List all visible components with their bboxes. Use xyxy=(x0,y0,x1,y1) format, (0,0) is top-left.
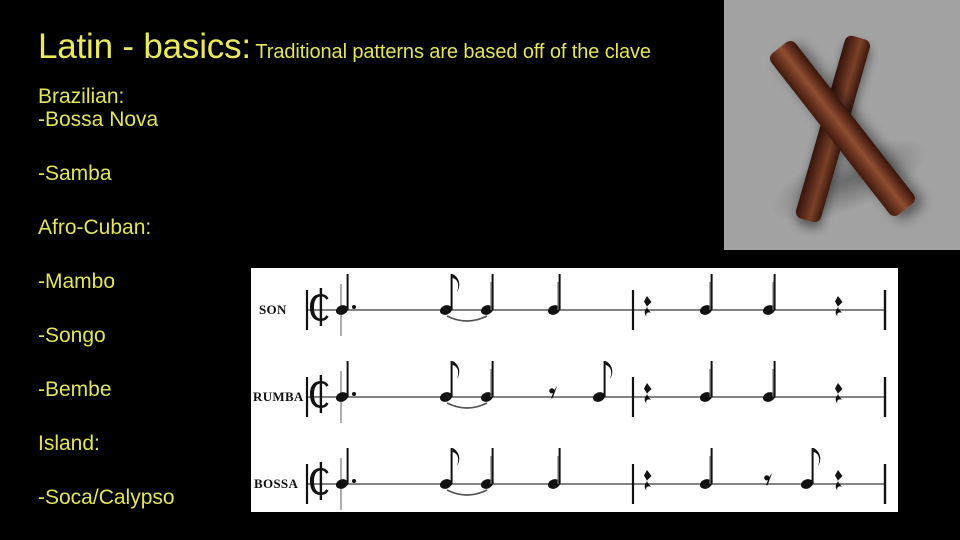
note-dotted-quarter xyxy=(335,448,350,490)
page-subtitle: Traditional patterns are based off of th… xyxy=(255,41,651,63)
list-item: -Mambo xyxy=(38,270,248,293)
note-quarter xyxy=(480,361,495,403)
list-item: -Bossa Nova xyxy=(38,108,248,131)
clef-cut-time xyxy=(310,288,329,326)
note-quarter xyxy=(547,274,562,316)
slide-title: Latin - basics: Traditional patterns are… xyxy=(38,27,778,67)
note-quarter xyxy=(480,448,495,490)
staff-label-son: SON xyxy=(259,302,287,317)
slide-canvas: Latin - basics: Traditional patterns are… xyxy=(0,0,960,540)
list-item: -Songo xyxy=(38,324,248,347)
note-dotted-quarter xyxy=(335,361,350,403)
staff-rumba: RUMBA xyxy=(253,361,886,423)
note-quarter xyxy=(480,274,495,316)
tie xyxy=(447,490,487,495)
note-quarter xyxy=(699,448,714,490)
list-item: Brazilian: xyxy=(38,85,248,108)
list-item: Afro-Cuban: xyxy=(38,216,248,239)
augmentation-dot xyxy=(352,305,356,309)
rest-quarter xyxy=(644,296,652,317)
tie xyxy=(447,316,487,321)
note-quarter xyxy=(547,448,562,490)
note-quarter xyxy=(699,274,714,316)
rest-quarter xyxy=(835,383,843,404)
list-item: -Bembe xyxy=(38,378,248,401)
rest-quarter xyxy=(644,383,652,404)
clef-cut-time xyxy=(310,462,329,500)
rest-quarter xyxy=(835,296,843,317)
note-quarter xyxy=(699,361,714,403)
claves-photo xyxy=(724,0,960,250)
page-title: Latin - basics: xyxy=(38,27,251,66)
note-quarter xyxy=(762,361,777,403)
rest-quarter xyxy=(644,470,652,491)
staff-label-bossa: BOSSA xyxy=(254,476,298,491)
list-item: -Soca/Calypso xyxy=(38,486,248,509)
augmentation-dot xyxy=(352,392,356,396)
note-dotted-quarter xyxy=(335,274,350,316)
staff-label-rumba: RUMBA xyxy=(253,389,304,404)
bullet-list: Brazilian: -Bossa Nova -Samba Afro-Cuban… xyxy=(38,85,248,509)
list-item: -Samba xyxy=(38,162,248,185)
list-item: Island: xyxy=(38,432,248,455)
staff-bossa: BOSSA xyxy=(254,448,886,510)
staff-son: SON xyxy=(259,274,886,336)
note-quarter xyxy=(762,274,777,316)
notation-image: SON xyxy=(251,268,898,512)
clef-cut-time xyxy=(310,375,329,413)
tie xyxy=(447,403,487,408)
augmentation-dot xyxy=(352,479,356,483)
rest-quarter xyxy=(835,470,843,491)
